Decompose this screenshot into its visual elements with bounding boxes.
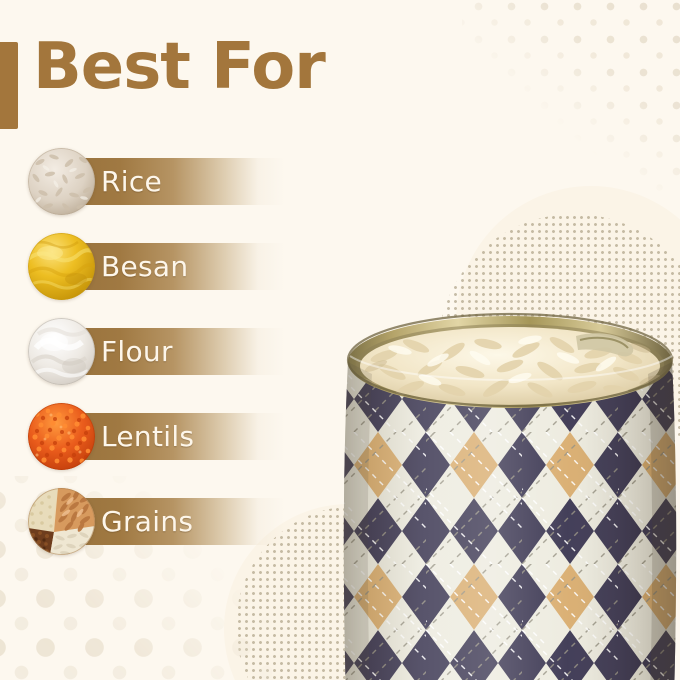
list-item-label: Flour xyxy=(101,328,173,375)
page-title: Best For xyxy=(33,35,325,100)
besan-flour-thumb xyxy=(28,233,95,300)
list-item-label: Grains xyxy=(101,498,193,545)
feature-list: Rice xyxy=(0,148,330,573)
title-accent-bar xyxy=(0,42,18,129)
list-item: Flour xyxy=(0,318,330,385)
dot-pattern-top-right xyxy=(462,0,680,200)
product-image-argyle-container xyxy=(330,300,680,680)
list-item: Rice xyxy=(0,148,330,215)
list-item-label: Rice xyxy=(101,158,162,205)
wheat-flour-thumb xyxy=(28,318,95,385)
list-item-label: Besan xyxy=(101,243,188,290)
feature-bar xyxy=(62,158,285,205)
red-lentils-thumb xyxy=(28,403,95,470)
list-item-label: Lentils xyxy=(101,413,194,460)
poster-canvas: Best For xyxy=(0,0,680,680)
list-item: Grains xyxy=(0,488,330,555)
list-item: Besan xyxy=(0,233,330,300)
feature-bar xyxy=(62,328,285,375)
list-item: Lentils xyxy=(0,403,330,470)
mixed-grains-thumb xyxy=(28,488,95,555)
rice-grains-thumb xyxy=(28,148,95,215)
